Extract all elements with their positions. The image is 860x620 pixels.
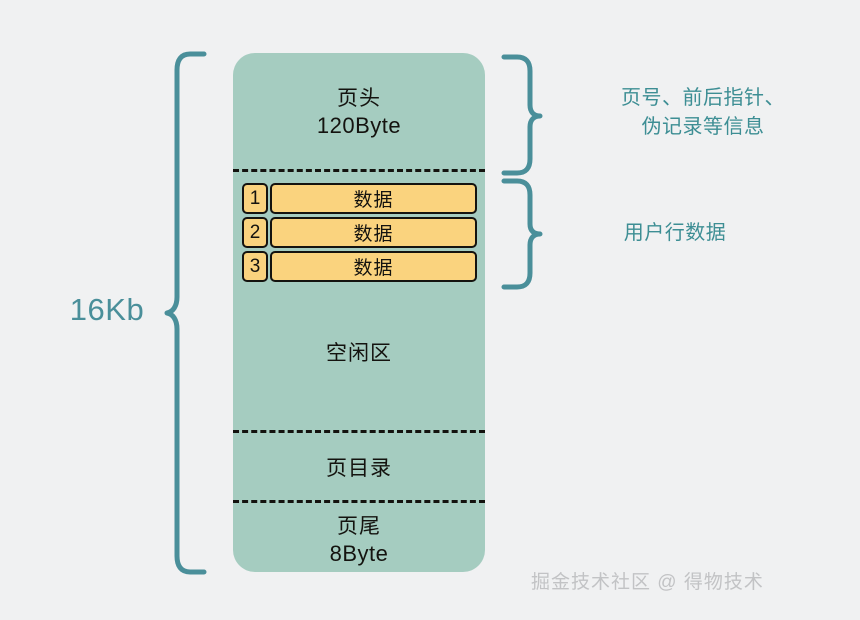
section-page-directory-title: 页目录	[233, 456, 485, 482]
annotation-page-header-line2: 伪记录等信息	[588, 113, 818, 142]
annotation-page-header: 页号、前后指针、 伪记录等信息	[588, 84, 818, 142]
row-index: 3	[242, 251, 268, 282]
left-brace-icon	[164, 48, 208, 578]
table-row[interactable]: 1 数据	[242, 183, 477, 214]
page-structure-card: 页头 120Byte 1 数据 2 数据 3 数据 空闲区	[233, 53, 485, 572]
diagram-canvas: 16Kb 页头 120Byte 1 数据 2 数据	[0, 0, 860, 620]
section-page-header-size: 120Byte	[233, 112, 485, 140]
section-page-directory: 页目录	[233, 456, 485, 482]
section-free-space-title: 空闲区	[233, 341, 485, 367]
data-rows-group: 1 数据 2 数据 3 数据	[242, 183, 477, 285]
right-brace-header-icon	[499, 52, 545, 178]
row-index: 2	[242, 217, 268, 248]
row-label: 数据	[270, 251, 477, 282]
section-page-trailer: 页尾 8Byte	[233, 514, 485, 568]
divider-directory-trailer	[233, 500, 485, 503]
annotation-user-row-data: 用户行数据	[580, 219, 770, 248]
section-page-trailer-title: 页尾	[233, 514, 485, 540]
row-label: 数据	[270, 217, 477, 248]
section-page-trailer-size: 8Byte	[233, 540, 485, 568]
table-row[interactable]: 2 数据	[242, 217, 477, 248]
page-size-label: 16Kb	[52, 292, 162, 328]
section-page-header: 页头 120Byte	[233, 86, 485, 140]
divider-free-directory	[233, 430, 485, 433]
right-brace-rows-icon	[499, 176, 545, 292]
annotation-page-header-line1: 页号、前后指针、	[588, 84, 818, 113]
watermark: 掘金技术社区 @ 得物技术	[531, 567, 764, 594]
section-page-header-title: 页头	[233, 86, 485, 112]
table-row[interactable]: 3 数据	[242, 251, 477, 282]
row-label: 数据	[270, 183, 477, 214]
section-free-space: 空闲区	[233, 341, 485, 367]
row-index: 1	[242, 183, 268, 214]
divider-header-rows	[233, 169, 485, 172]
